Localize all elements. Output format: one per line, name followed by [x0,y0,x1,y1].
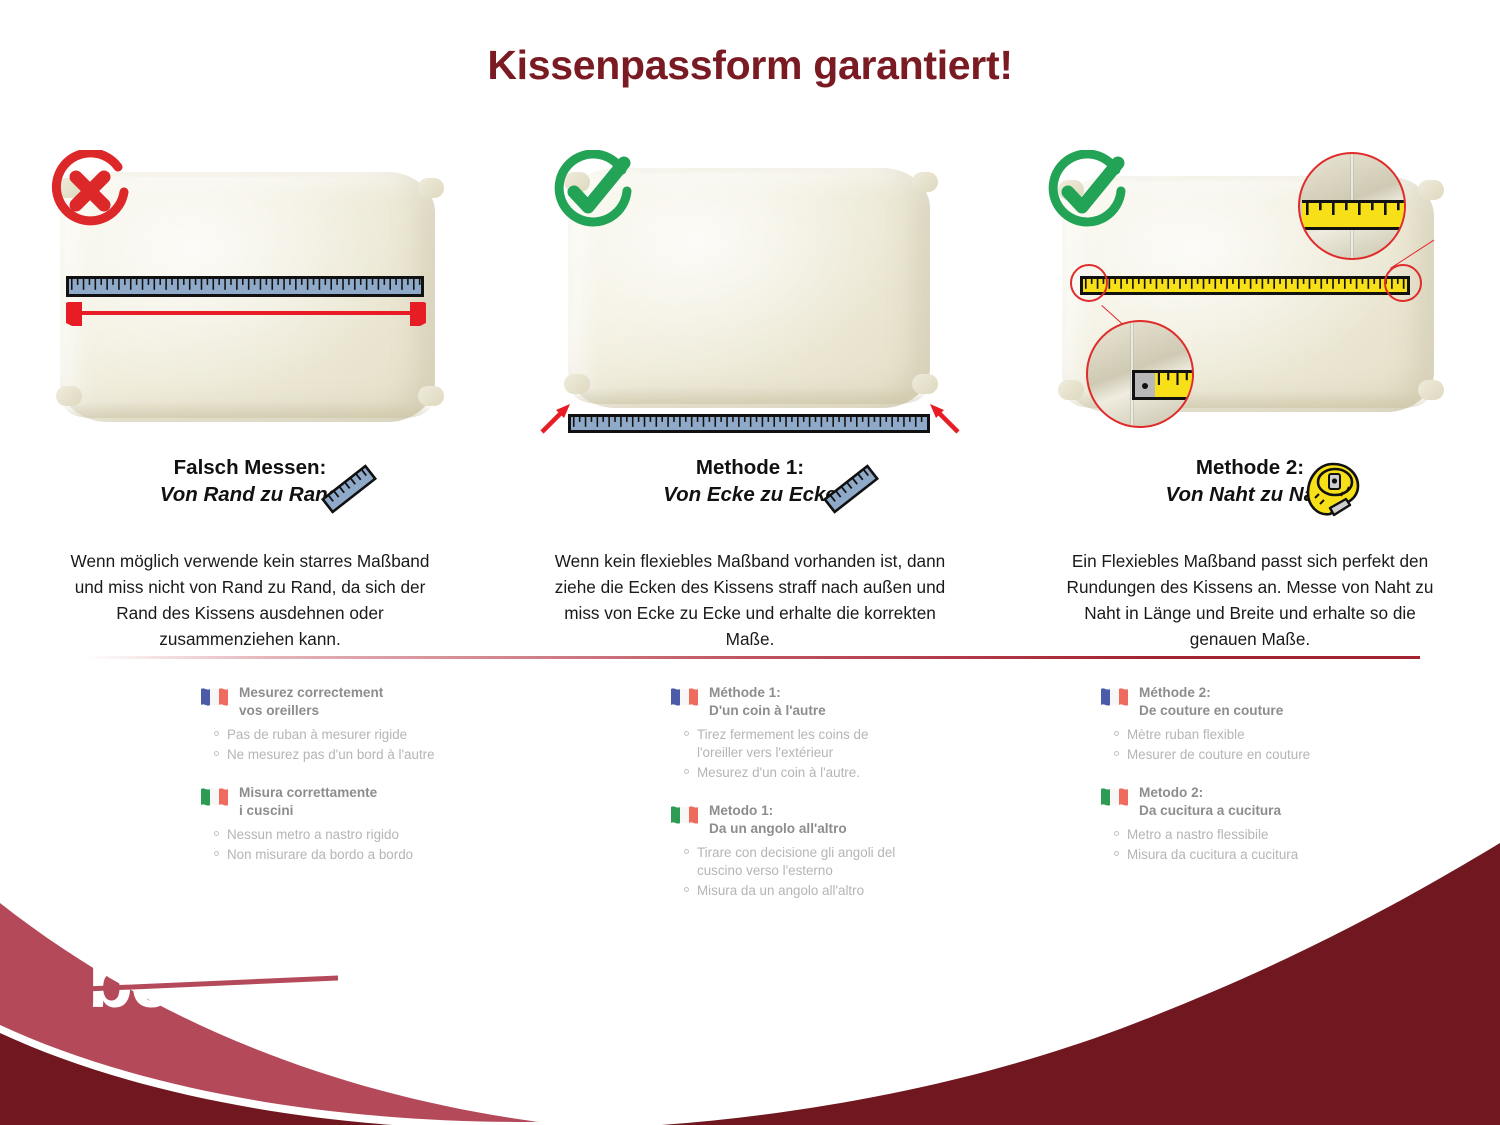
illustration-wrong-measure [40,150,460,440]
blue-ruler-bar [568,414,930,433]
bullet-icon [684,769,689,774]
heading-line-1: Falsch Messen: [0,454,500,481]
ml-title: Metodo 2: Da cucitura a cucitura [1139,784,1281,820]
section-divider [85,656,1420,659]
tape-hook [1135,373,1155,397]
french-flag-icon [200,686,230,708]
ml-list-item: Ne mesurez pas d'un bord à l'autre [214,746,500,764]
heading-line-2: Von Ecke zu Ecke [500,481,1000,508]
ruler-ticks-icon [69,279,421,297]
ml-title-line-1: Metodo 1: [709,802,847,820]
ml-list: Mètre ruban flexible Mesurer de couture … [1114,726,1500,764]
heading-line-1: Methode 2: [1000,454,1500,481]
ml-list-item: Mètre ruban flexible [1114,726,1500,744]
tape-hook-hole [1142,383,1148,389]
italian-flag-icon [200,786,230,808]
bullet-icon [214,731,219,736]
pillow-corner-nub [418,178,444,198]
pillow-corner-nub [56,386,82,406]
ml-block-fr: Méthode 1: D'un coin à l'autre Tirez fer… [670,684,1000,782]
italian-flag-icon [670,804,700,826]
panel-body-methode-1: Wenn kein flexiebles Maßband vorhanden i… [550,548,950,653]
blue-ruler-bar [66,276,424,297]
ml-list-item: Mesurer de couture en couture [1114,746,1500,764]
heading-line-2: Von Naht zu Naht [1000,481,1500,508]
double-arrow-icon [66,302,426,326]
ml-title-line-2: D'un coin à l'autre [709,702,826,720]
ml-title: Méthode 1: D'un coin à l'autre [709,684,826,720]
ruler-ticks-icon [571,417,927,433]
panel-methode-2: Methode 2: Von Naht zu Naht Ein Flexiebl… [1000,150,1500,653]
ml-title-line-2: De couture en couture [1139,702,1283,720]
pillow-corner-nub [912,374,938,394]
tape-ticks-icon [1083,279,1407,295]
ml-item-text: Ne mesurez pas d'un bord à l'autre [227,746,435,764]
pillow-corner-nub [1418,180,1444,200]
loupe-marker-left [1070,264,1108,302]
loupe-seam-bottom-left [1086,320,1194,428]
brand-logo: beties [88,945,338,1030]
french-flag-icon [670,686,700,708]
illustration-corner-to-corner [540,150,960,440]
ml-title-line-1: Méthode 2: [1139,684,1283,702]
cross-icon [48,150,132,234]
ml-list: Pas de ruban à mesurer rigide Ne mesurez… [214,726,500,764]
french-flag-icon [1100,686,1130,708]
pillow-corner-nub [912,172,938,192]
ml-block-fr: Mesurez correctement vos oreillers Pas d… [200,684,500,764]
blue-ruler-icon [318,458,380,520]
ml-list-item: Pas de ruban à mesurer rigide [214,726,500,744]
pillow-corner-nub [418,386,444,406]
ml-list-item: Mesurez d'un coin à l'autre. [684,764,1000,782]
ml-title-line-1: Méthode 1: [709,684,826,702]
methods-panel-group: Falsch Messen: Von Rand zu Rand Wenn mög… [0,150,1500,653]
ml-title-line-1: Metodo 2: [1139,784,1281,802]
check-icon [1044,150,1128,234]
panel-body-wrong: Wenn möglich verwende kein starres Maßba… [60,548,440,653]
loupe-tape-ticks-icon [1302,203,1406,227]
loupe-marker-right [1384,264,1422,302]
illustration-seam-to-seam [1040,150,1460,440]
corner-arrow-right-icon [926,402,960,436]
ml-title: Misura correttamente i cuscini [239,784,377,820]
ml-title-line-2: Da cucitura a cucitura [1139,802,1281,820]
panel-body-methode-2: Ein Flexiebles Maßband passt sich perfek… [1050,548,1450,653]
ml-item-text: Mesurez d'un coin à l'autre. [697,764,860,782]
yellow-tape-measure-icon [1300,458,1366,524]
panel-falsch-messen: Falsch Messen: Von Rand zu Rand Wenn mög… [0,150,500,653]
blue-ruler-icon [820,458,882,520]
loupe-tape-segment [1302,200,1406,230]
ml-title: Méthode 2: De couture en couture [1139,684,1283,720]
corner-arrow-left-icon [540,402,574,436]
pillow-corner-nub [1058,380,1084,400]
ml-item-text: Pas de ruban à mesurer rigide [227,726,407,744]
yellow-tape-bar [1080,276,1410,295]
ml-list: Tirez fermement les coins de l'oreiller … [684,726,1000,782]
loupe-seam-top-right [1298,152,1406,260]
ml-item-text: Mètre ruban flexible [1127,726,1245,744]
heading-line-2: Von Rand zu Rand [0,481,500,508]
bullet-icon [1114,751,1119,756]
ml-title-line-2: i cuscini [239,802,377,820]
bullet-icon [214,751,219,756]
pillow-corner-nub [564,374,590,394]
ml-title-line-2: vos oreillers [239,702,383,720]
page-title: Kissenpassform garantiert! [0,42,1500,89]
beties-logo-icon: beties [88,945,338,1025]
loupe-tape-ticks-icon [1155,373,1194,397]
heading-line-1: Methode 1: [500,454,1000,481]
ml-title-line-1: Mesurez correctement [239,684,383,702]
italian-flag-icon [1100,786,1130,808]
panel-heading-methode-2: Methode 2: Von Naht zu Naht [1000,454,1500,532]
bullet-icon [684,731,689,736]
loupe-tape-segment [1132,370,1194,400]
ml-list-item: Tirez fermement les coins de l'oreiller … [684,726,1000,762]
ml-item-text: Mesurer de couture en couture [1127,746,1310,764]
panel-heading-wrong: Falsch Messen: Von Rand zu Rand [0,454,500,532]
ml-title-line-1: Misura correttamente [239,784,377,802]
panel-methode-1: Methode 1: Von Ecke zu Ecke Wenn kein fl… [500,150,1000,653]
check-icon [550,150,634,234]
pillow-corner-nub [1418,380,1444,400]
panel-heading-methode-1: Methode 1: Von Ecke zu Ecke [500,454,1000,532]
ml-item-text: Tirez fermement les coins de l'oreiller … [697,726,897,762]
ml-title: Mesurez correctement vos oreillers [239,684,383,720]
bullet-icon [1114,731,1119,736]
ml-block-fr: Méthode 2: De couture en couture Mètre r… [1100,684,1500,764]
